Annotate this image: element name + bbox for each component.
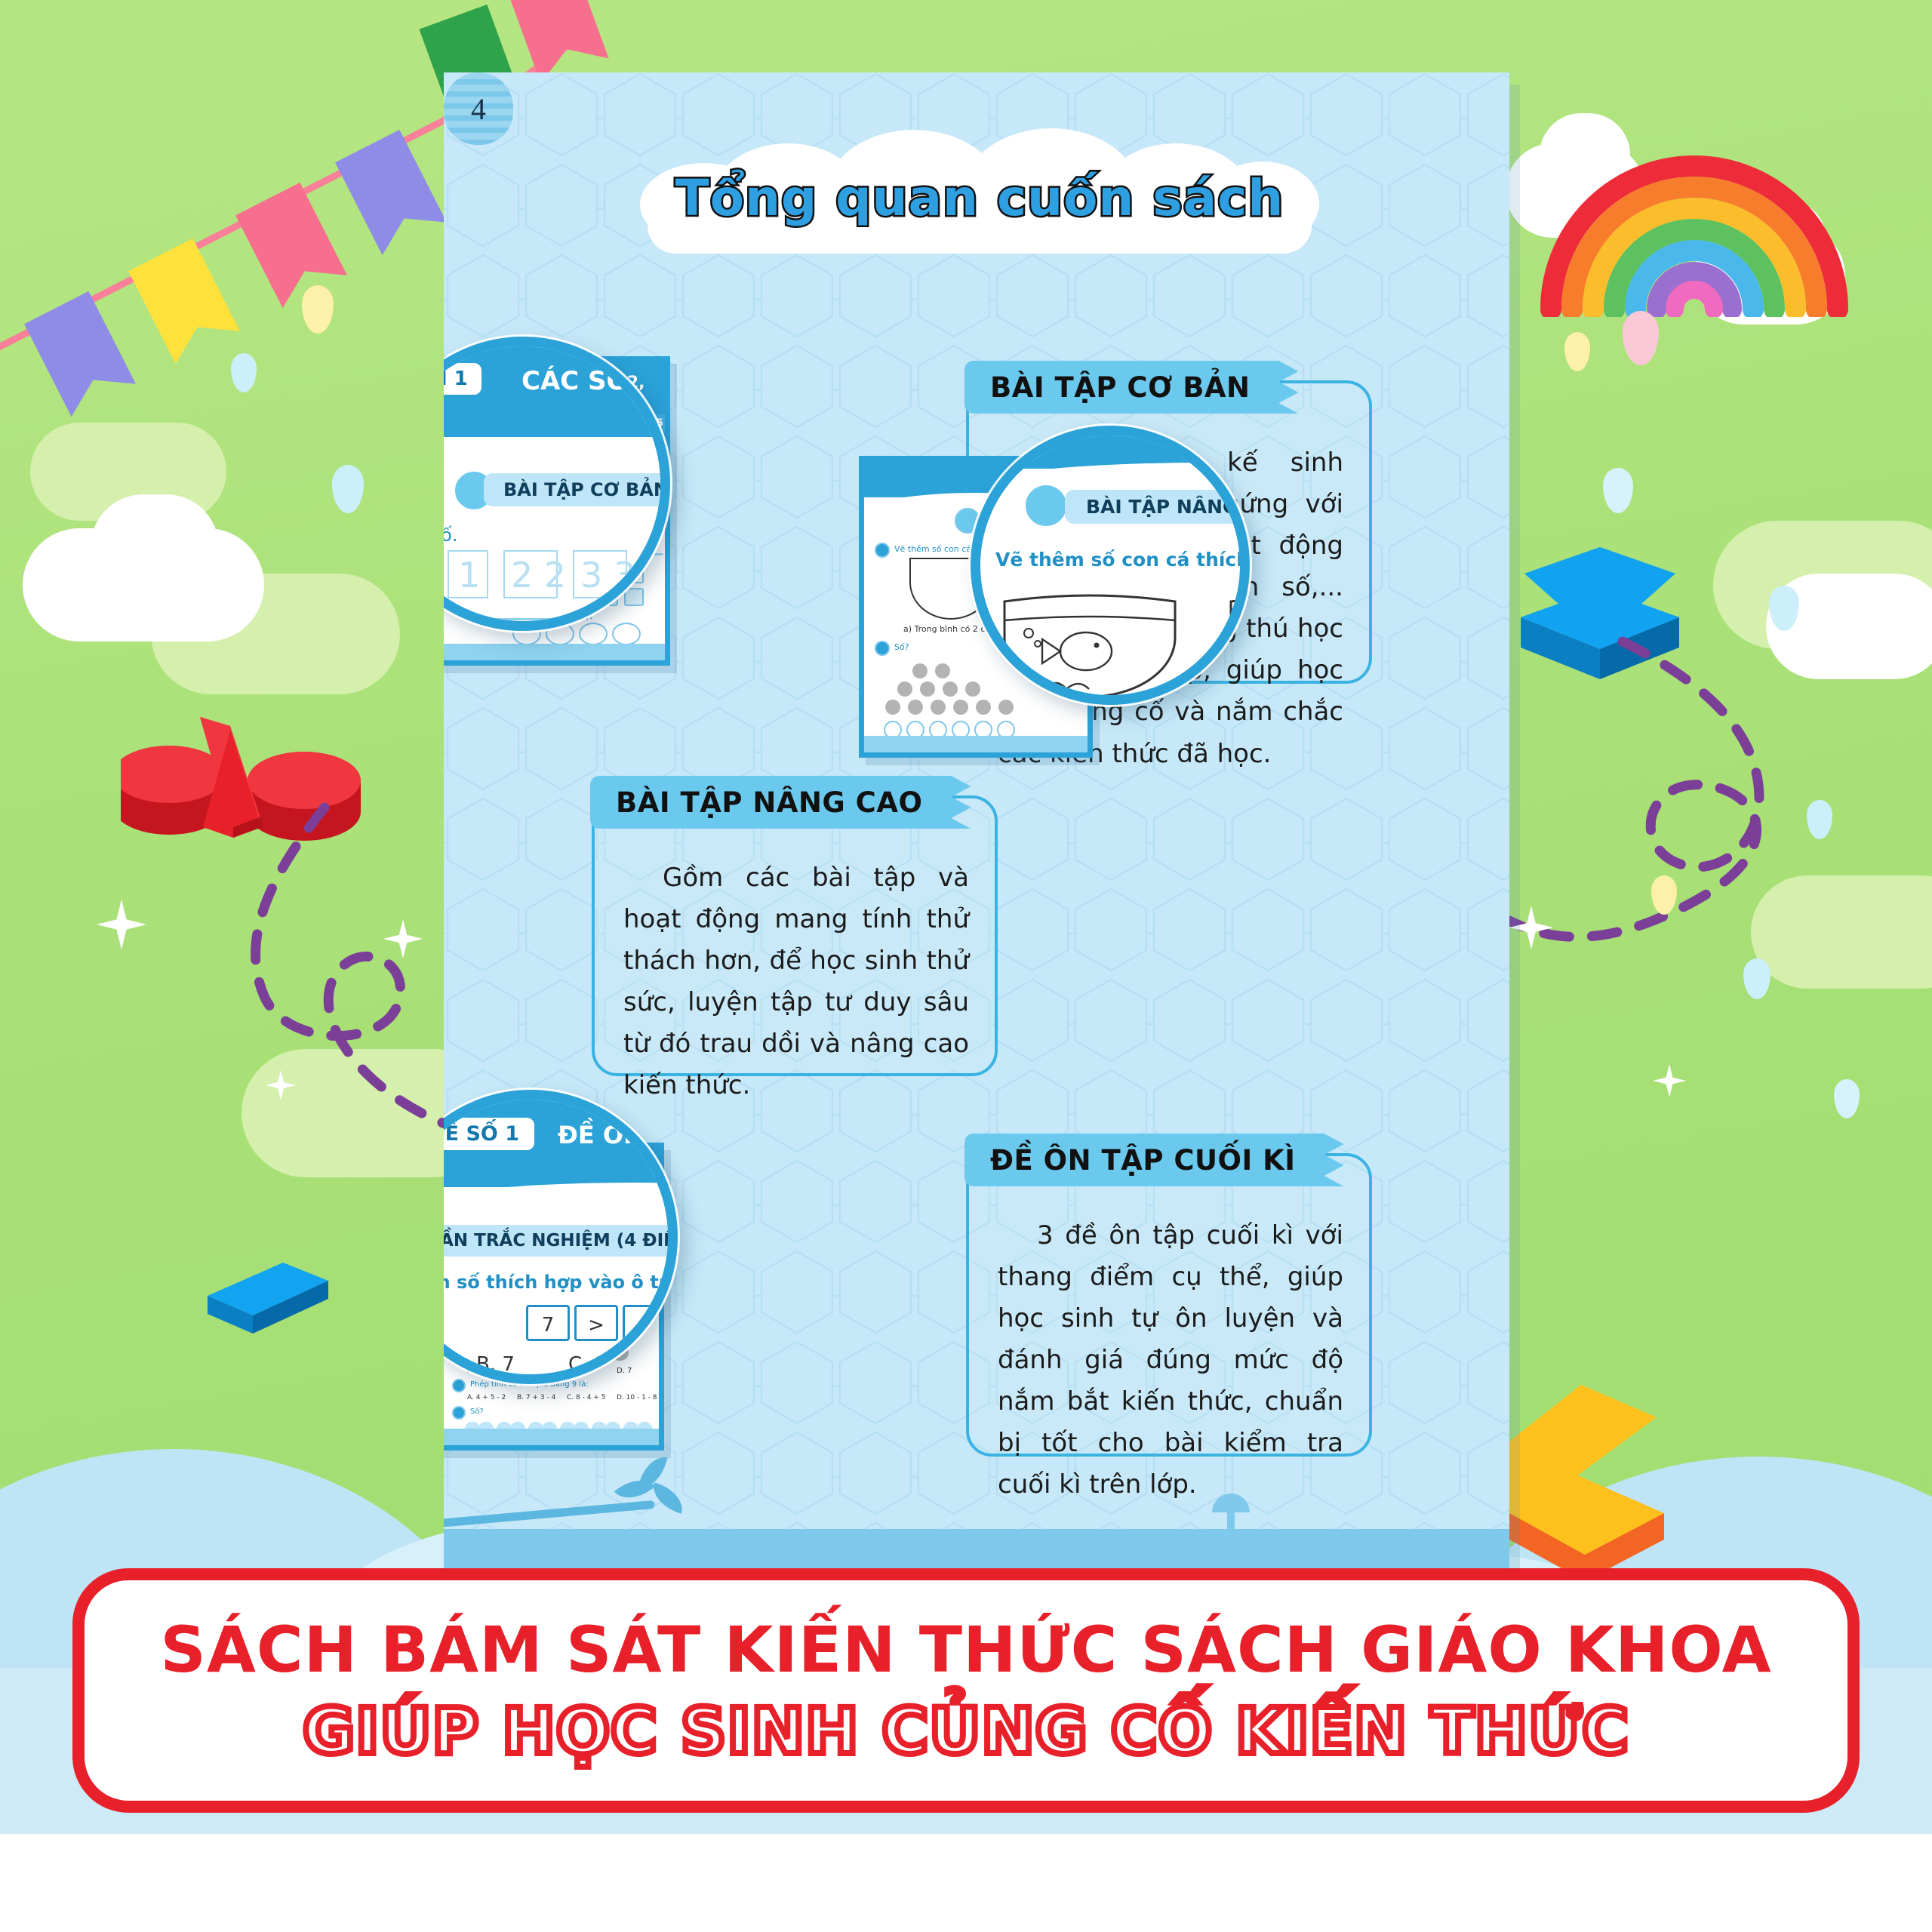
fishbowl-a-icon	[995, 579, 1184, 705]
rainbow-icon	[1528, 91, 1860, 317]
mag-exam-instruction: Điền số thích hợp vào ô trống:	[444, 1272, 678, 1293]
thumb-exam-q6: Số?	[470, 1407, 484, 1416]
page-number-hive: 4	[444, 72, 513, 145]
mag-basic-title: CÁC SỐ 0, 1, 2,	[521, 366, 670, 396]
thumb-exam-grass	[444, 1429, 659, 1445]
mag-adv-mascot-icon	[1023, 482, 1069, 529]
card-exam-label: ĐỀ ÔN TẬP CUỐI KÌ	[964, 1134, 1344, 1186]
card-exam-body: 3 đề ôn tập cuối kì với thang điểm cụ th…	[998, 1215, 1343, 1506]
page-title: Tổng quan cuốn sách	[640, 169, 1319, 227]
dashed-path-left-icon	[151, 800, 468, 1192]
card-exam: ĐỀ ÔN TẬP CUỐI KÌ 3 đề ôn tập cuối kì vớ…	[966, 1153, 1372, 1457]
card-advanced-label: BÀI TẬP NÂNG CAO	[590, 776, 971, 829]
magnifier-advanced[interactable]: BÀI TẬP NÂNG CAO ★★ Vẽ thêm số con cá th…	[971, 426, 1250, 705]
thumb-basic-grass	[444, 644, 665, 660]
thumb-adv-grass	[864, 736, 1088, 752]
magnifier-basic[interactable]: BÀI 1 CÁC SỐ 0, 1, 2, BÀI TẬP CƠ BẢN ★ v…	[444, 337, 670, 631]
white-cloud-left-mid-b	[91, 494, 219, 600]
mag-basic-instruction: viết số.	[444, 525, 458, 546]
bottom-banner: SÁCH BÁM SÁT KIẾN THỨC SÁCH GIÁO KHOA GI…	[72, 1568, 1860, 1813]
card-advanced-body: Gồm các bài tập và hoạt động mang tính t…	[623, 857, 969, 1106]
mag-adv-q1: Vẽ thêm số con cá thích hợp để:	[995, 549, 1250, 571]
title-cloud: Tổng quan cuốn sách	[640, 140, 1319, 254]
page-number: 4	[471, 91, 486, 127]
mag-exam-title: ĐỀ ÔN TẬP CU	[558, 1121, 678, 1149]
banner-line-1: SÁCH BÁM SÁT KIẾN THỨC SÁCH GIÁO KHOA	[160, 1613, 1771, 1687]
card-basic-label: BÀI TẬP CƠ BẢN	[964, 361, 1299, 414]
book-page: 4 Tổng quan cuốn sách BÀI TẬP CƠ BẢN Đượ…	[444, 72, 1509, 1579]
banner-line-2: GIÚP HỌC SINH CỦNG CỐ KIẾN THỨC	[303, 1694, 1629, 1768]
mag-exam-chip: ĐỀ SỐ 1	[444, 1118, 534, 1150]
mag-exam-section: PHẦN TRẮC NGHIỆM (4 ĐIỂM)	[444, 1225, 678, 1257]
bar-3d-blue-icon	[200, 1249, 336, 1347]
hill-white-band	[0, 1834, 1932, 1932]
mag-adv-band: BÀI TẬP NÂNG CAO ★★	[1065, 490, 1250, 524]
mag-basic-chip: BÀI 1	[444, 363, 481, 395]
mag-basic-band: BÀI TẬP CƠ BẢN ★	[484, 473, 670, 506]
card-advanced: BÀI TẬP NÂNG CAO Gồm các bài tập và hoạt…	[592, 795, 998, 1076]
poster-root: 4 Tổng quan cuốn sách BÀI TẬP CƠ BẢN Đượ…	[0, 0, 1932, 1932]
thumb-adv-q2: Số?	[894, 642, 909, 652]
magnifier-exam[interactable]: ĐỀ SỐ 1 ĐỀ ÔN TẬP CU PHẦN TRẮC NGHIỆM (4…	[444, 1090, 678, 1384]
